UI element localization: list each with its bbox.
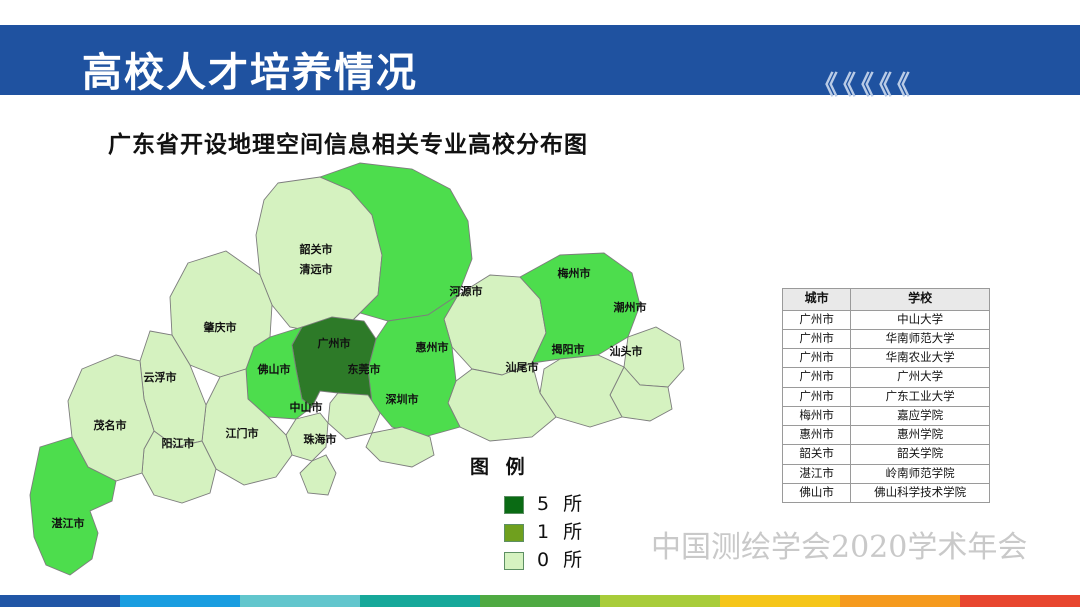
- slide-canvas: 高校人才培养情况 《《《《《 广东省开设地理空间信息相关专业高校分布图: [0, 0, 1080, 607]
- map-label-guangzhou: 广州市: [318, 336, 351, 350]
- table-cell-school: 惠州学院: [851, 426, 990, 445]
- table-row: 佛山市佛山科学技术学院: [783, 483, 990, 502]
- page-title: 高校人才培养情况: [82, 53, 418, 93]
- strip-segment: [0, 595, 120, 607]
- table-cell-city: 广州市: [783, 349, 851, 368]
- map-label-huizhou: 惠州市: [416, 340, 449, 354]
- table-cell-school: 韶关学院: [851, 445, 990, 464]
- strip-segment: [600, 595, 720, 607]
- table-cell-school: 广东工业大学: [851, 387, 990, 406]
- table-cell-city: 佛山市: [783, 483, 851, 502]
- table-cell-city: 韶关市: [783, 445, 851, 464]
- map-title: 广东省开设地理空间信息相关专业高校分布图: [108, 125, 588, 159]
- bottom-color-strip: [0, 595, 1080, 607]
- table-header-city: 城市: [783, 289, 851, 311]
- map-label-meizhou: 梅州市: [558, 266, 591, 280]
- table-header-school: 学校: [851, 289, 990, 311]
- header-banner: 高校人才培养情况 《《《《《: [0, 25, 1080, 95]
- map-label-zhongshan: 中山市: [290, 400, 323, 414]
- watermark-text: 中国测绘学会2020学术年会: [651, 522, 1027, 566]
- legend-item: 5 所: [504, 495, 650, 514]
- map-label-shenzhen: 深圳市: [386, 392, 419, 406]
- legend-swatch-5: [504, 496, 524, 514]
- table-row: 广州市华南农业大学: [783, 349, 990, 368]
- table-cell-school: 岭南师范学院: [851, 464, 990, 483]
- map-label-yunfu: 云浮市: [144, 370, 177, 384]
- map-label-chaozhou: 潮州市: [614, 300, 647, 314]
- table-cell-city: 广州市: [783, 368, 851, 387]
- legend-item: 0 所: [504, 551, 650, 570]
- strip-segment: [840, 595, 960, 607]
- legend-item: 1 所: [504, 523, 650, 542]
- map-label-maoming: 茂名市: [94, 418, 127, 432]
- legend-label-0: 0 所: [537, 551, 586, 570]
- table-row: 广州市华南师范大学: [783, 330, 990, 349]
- map-label-zhaoqing: 肇庆市: [203, 320, 237, 334]
- map-label-zhanjiang: 湛江市: [52, 516, 85, 530]
- table-cell-city: 惠州市: [783, 426, 851, 445]
- schools-table-container: 城市 学校 广州市中山大学广州市华南师范大学广州市华南农业大学广州市广州大学广州…: [782, 288, 990, 503]
- table-cell-city: 梅州市: [783, 406, 851, 425]
- strip-segment: [120, 595, 240, 607]
- legend-label-5: 5 所: [537, 495, 586, 514]
- map-label-shantou: 汕头市: [610, 344, 643, 358]
- map-label-zhuhai: 珠海市: [304, 432, 337, 446]
- table-row: 湛江市岭南师范学院: [783, 464, 990, 483]
- table-body: 广州市中山大学广州市华南师范大学广州市华南农业大学广州市广州大学广州市广东工业大…: [783, 310, 990, 502]
- table-cell-school: 广州大学: [851, 368, 990, 387]
- map-label-dongguan: 东莞市: [348, 362, 381, 376]
- table-row: 梅州市嘉应学院: [783, 406, 990, 425]
- map-label-yangjiang: 阳江市: [162, 436, 195, 450]
- table-header-row: 城市 学校: [783, 289, 990, 311]
- legend-swatch-1: [504, 524, 524, 542]
- legend-label-1: 1 所: [537, 523, 586, 542]
- map-region-zhuhai[interactable]: [300, 455, 336, 495]
- map-label-foshan: 佛山市: [257, 362, 291, 376]
- table-cell-city: 湛江市: [783, 464, 851, 483]
- table-row: 广州市中山大学: [783, 310, 990, 329]
- table-row: 韶关市韶关学院: [783, 445, 990, 464]
- table-cell-city: 广州市: [783, 330, 851, 349]
- legend-items: 5 所 1 所 0 所: [504, 495, 650, 570]
- map-label-jieyang: 揭阳市: [552, 342, 585, 356]
- map-label-shanwei: 汕尾市: [506, 360, 539, 374]
- strip-segment: [240, 595, 360, 607]
- schools-table: 城市 学校 广州市中山大学广州市华南师范大学广州市华南农业大学广州市广州大学广州…: [782, 288, 990, 503]
- map-label-jiangmen: 江门市: [226, 426, 259, 440]
- map-region-shanwei[interactable]: [448, 363, 556, 441]
- table-cell-school: 中山大学: [851, 310, 990, 329]
- table-row: 广州市广州大学: [783, 368, 990, 387]
- table-cell-school: 佛山科学技术学院: [851, 483, 990, 502]
- table-row: 惠州市惠州学院: [783, 426, 990, 445]
- strip-segment: [360, 595, 480, 607]
- map-label-shaoguan: 韶关市: [300, 242, 333, 256]
- strip-segment: [480, 595, 600, 607]
- table-cell-city: 广州市: [783, 387, 851, 406]
- strip-segment: [960, 595, 1080, 607]
- legend-swatch-0: [504, 552, 524, 570]
- map-label-heyuan: 河源市: [450, 284, 483, 298]
- chevron-decoration-icon: 《《《《《: [812, 73, 915, 99]
- table-cell-school: 华南师范大学: [851, 330, 990, 349]
- map-label-qingyuan: 清远市: [300, 262, 333, 276]
- table-cell-city: 广州市: [783, 310, 851, 329]
- map-legend: 图 例 5 所 1 所 0 所: [470, 452, 650, 579]
- strip-segment: [720, 595, 840, 607]
- table-cell-school: 嘉应学院: [851, 406, 990, 425]
- table-row: 广州市广东工业大学: [783, 387, 990, 406]
- table-cell-school: 华南农业大学: [851, 349, 990, 368]
- legend-title: 图 例: [470, 452, 650, 479]
